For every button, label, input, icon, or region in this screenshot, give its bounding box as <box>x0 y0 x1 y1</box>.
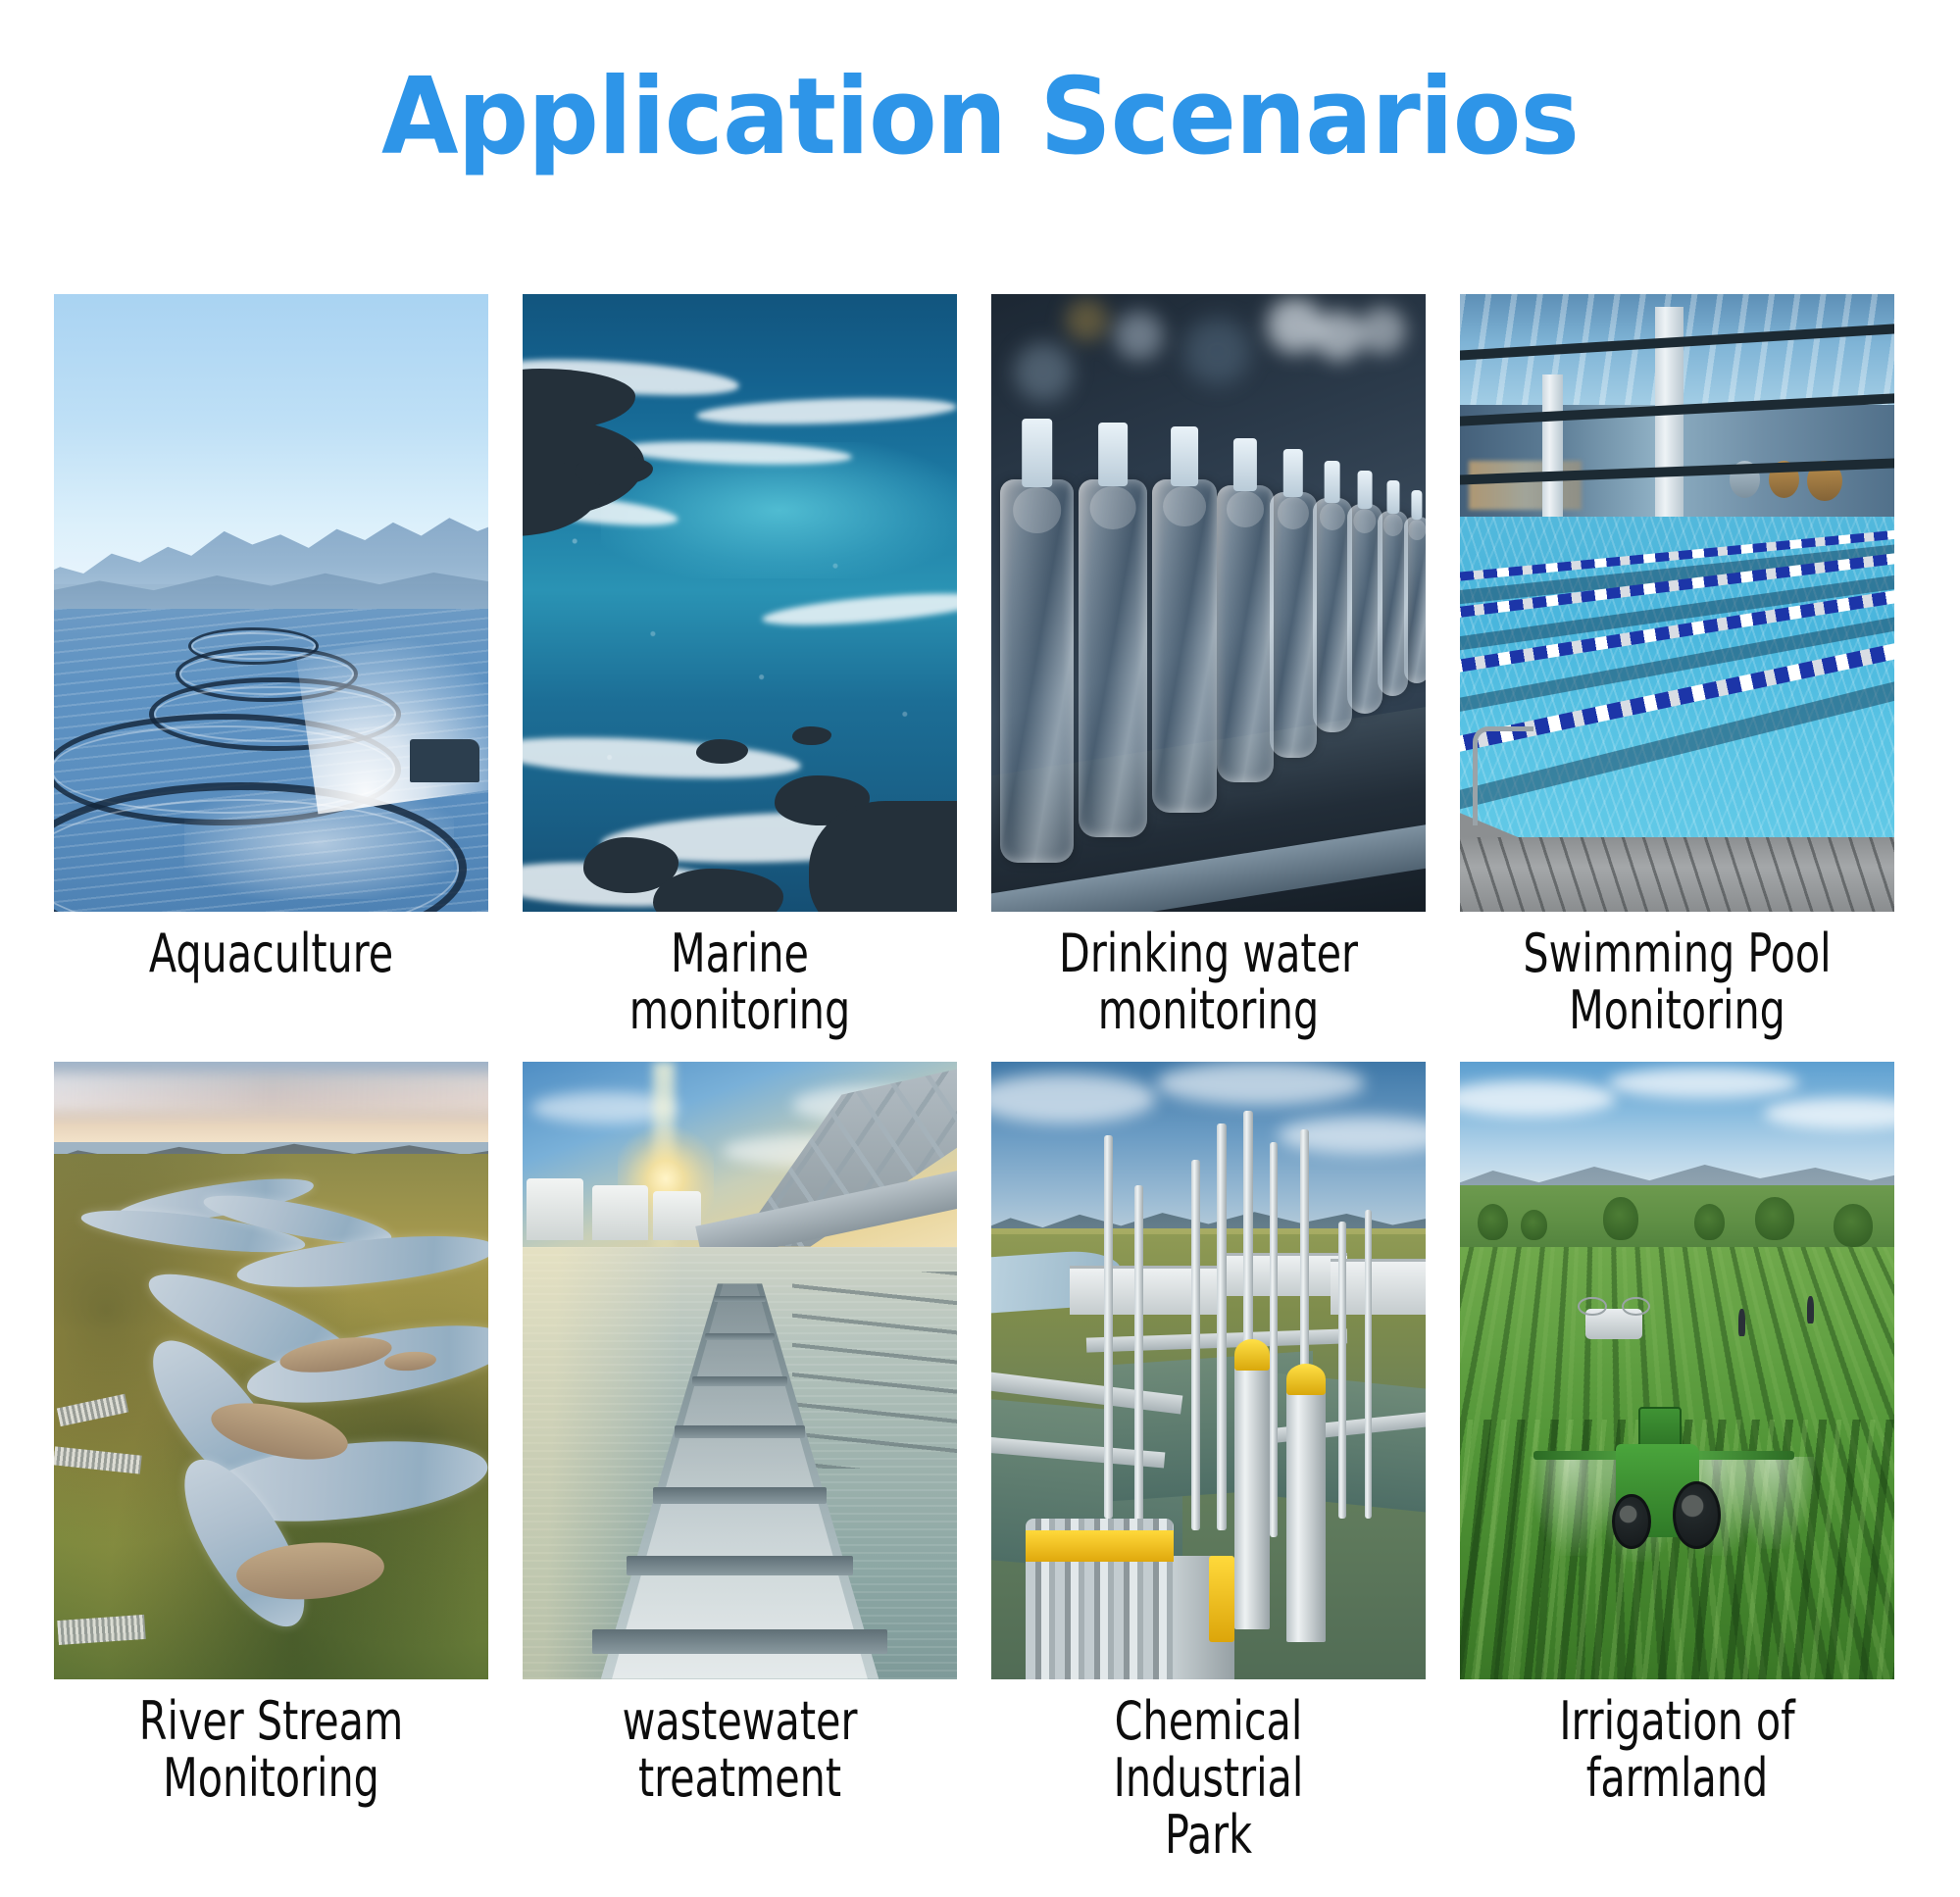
water-bottle <box>1000 479 1074 863</box>
tree <box>1478 1204 1508 1241</box>
drone <box>1585 1309 1642 1340</box>
water-bottle <box>1217 485 1274 781</box>
scenario-caption: Irrigation of farmland <box>1492 1693 1862 1808</box>
river-stream-photo <box>54 1062 488 1679</box>
deck-grating <box>1460 837 1894 912</box>
scenario-caption: Chemical Industrial Park <box>1024 1693 1393 1865</box>
vertical-pipe <box>1270 1142 1279 1537</box>
process-column <box>1234 1358 1269 1629</box>
yellow-actuator <box>1209 1556 1235 1642</box>
water-bottle <box>1313 498 1352 732</box>
tree <box>1603 1197 1637 1240</box>
storage-tank <box>653 1191 701 1240</box>
scenario-caption: River Stream Monitoring <box>86 1693 456 1808</box>
cloud <box>1156 1062 1365 1105</box>
scenario-card-chemical-industrial-park[interactable]: Chemical Industrial Park <box>991 1062 1426 1865</box>
storage-tank <box>592 1185 649 1241</box>
tractor-wheel <box>1612 1494 1651 1550</box>
vertical-pipe <box>1191 1160 1200 1530</box>
tree <box>1694 1204 1725 1241</box>
feed-boat <box>410 739 479 782</box>
tree <box>1755 1197 1794 1240</box>
vertical-pipe <box>1338 1222 1346 1518</box>
drinking-water-photo <box>991 294 1426 912</box>
weir-plate <box>692 1376 787 1386</box>
scenario-caption: Swimming Pool Monitoring <box>1492 925 1862 1040</box>
vertical-pipe <box>1217 1123 1226 1531</box>
tree <box>1521 1210 1547 1241</box>
spray-plume <box>1730 1457 1817 1550</box>
yellow-valve-cap <box>1286 1364 1326 1395</box>
water-bottle <box>1270 492 1318 758</box>
weir-plate <box>714 1296 766 1302</box>
wastewater-treatment-photo <box>523 1062 957 1679</box>
swimming-pool-photo <box>1460 294 1894 912</box>
scenario-card-drinking-water-monitoring[interactable]: Drinking water monitoring <box>991 294 1426 1040</box>
tree <box>1834 1204 1873 1247</box>
vertical-pipe <box>1134 1185 1142 1531</box>
weir-plate <box>592 1629 887 1654</box>
scenario-card-wastewater-treatment[interactable]: wastewater treatment <box>523 1062 957 1865</box>
cloud <box>1608 1068 1799 1099</box>
side-baffles <box>792 1272 957 1470</box>
cloud-band <box>54 1073 488 1111</box>
storage-tank <box>527 1178 583 1240</box>
field-worker <box>1738 1309 1745 1336</box>
yellow-valve-cap <box>1234 1339 1269 1371</box>
water-bottle <box>1378 511 1408 696</box>
weir-plate <box>627 1556 852 1575</box>
marine-monitoring-photo <box>523 294 957 912</box>
lit-windows <box>1469 461 1582 510</box>
weir-plate <box>675 1425 805 1438</box>
scenario-card-river-stream-monitoring[interactable]: River Stream Monitoring <box>54 1062 488 1865</box>
application-scenarios-page: Application Scenarios Aquaculture <box>0 0 1960 1897</box>
scenario-caption: Marine monitoring <box>555 925 925 1040</box>
scenario-caption: Aquaculture <box>86 925 456 982</box>
volcanic-rock <box>792 726 831 745</box>
water-spray <box>296 626 488 814</box>
scenario-grid: Aquaculture <box>54 294 1907 1865</box>
weir-plate <box>705 1333 775 1341</box>
aquaculture-photo <box>54 294 488 912</box>
water-bottle <box>1079 479 1148 837</box>
pool-handrail <box>1473 726 1533 825</box>
scenario-card-irrigation-of-farmland[interactable]: Irrigation of farmland <box>1460 1062 1894 1865</box>
scenario-caption: wastewater treatment <box>555 1693 925 1808</box>
process-column <box>1286 1382 1326 1642</box>
weir-plate <box>653 1487 827 1503</box>
page-title: Application Scenarios <box>59 61 1901 175</box>
yellow-manifold <box>1026 1530 1174 1562</box>
irrigation-farmland-photo <box>1460 1062 1894 1679</box>
vertical-pipe <box>1365 1210 1373 1519</box>
chemical-industrial-park-photo <box>991 1062 1426 1679</box>
water-bottle <box>1152 479 1217 813</box>
scenario-caption: Drinking water monitoring <box>1024 925 1393 1040</box>
tractor-wheel <box>1673 1481 1721 1549</box>
field-worker <box>1807 1296 1814 1323</box>
scenario-card-swimming-pool-monitoring[interactable]: Swimming Pool Monitoring <box>1460 294 1894 1040</box>
scenario-card-marine-monitoring[interactable]: Marine monitoring <box>523 294 957 1040</box>
vertical-pipe <box>1104 1135 1113 1519</box>
water-bottle <box>1347 504 1382 714</box>
scenario-card-aquaculture[interactable]: Aquaculture <box>54 294 488 1040</box>
